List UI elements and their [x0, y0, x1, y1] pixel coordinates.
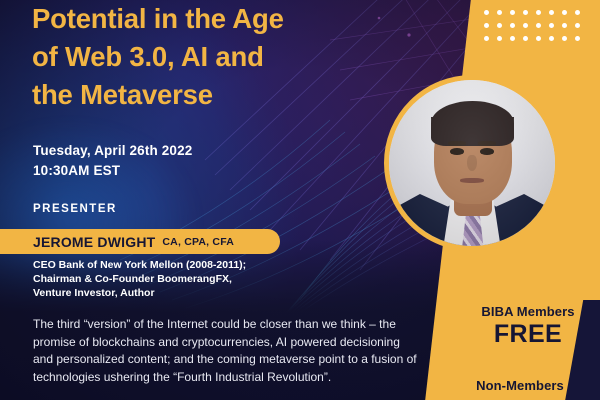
presenter-name-badge: JEROME DWIGHT CA, CPA, CFA	[0, 229, 280, 254]
presenter-bio-line-3: Venture Investor, Author	[33, 286, 333, 300]
presenter-headshot-image	[389, 80, 555, 246]
members-price-label: BIBA Members	[468, 304, 588, 319]
event-date: Tuesday, April 26th 2022	[33, 141, 363, 161]
event-time: 10:30AM EST	[33, 161, 363, 181]
presenter-photo-frame	[384, 75, 560, 251]
presenter-credentials: CA, CPA, CFA	[162, 236, 234, 248]
presenter-bio: CEO Bank of New York Mellon (2008-2011);…	[33, 258, 333, 300]
event-datetime: Tuesday, April 26th 2022 10:30AM EST	[33, 141, 363, 181]
title-line-2: of Web 3.0, AI and	[32, 41, 264, 72]
presenter-name: JEROME DWIGHT	[33, 234, 155, 250]
members-price-value: FREE	[468, 320, 588, 349]
poster-title: Unlocking Potential in the Age of Web 3.…	[32, 0, 392, 114]
presenter-bio-line-2: Chairman & Co-Founder BoomerangFX,	[33, 272, 333, 286]
presenter-section-label: PRESENTER	[33, 203, 117, 215]
webinar-promo-poster: Unlocking Potential in the Age of Web 3.…	[0, 0, 600, 400]
title-line-1: Potential in the Age	[32, 3, 284, 34]
nonmembers-price-label: Non-Members	[460, 378, 580, 393]
dot-grid-decoration	[484, 10, 584, 45]
event-description: The third “version” of the Internet coul…	[33, 316, 421, 386]
title-line-3: the Metaverse	[32, 79, 213, 110]
presenter-bio-line-1: CEO Bank of New York Mellon (2008-2011);	[33, 258, 333, 272]
